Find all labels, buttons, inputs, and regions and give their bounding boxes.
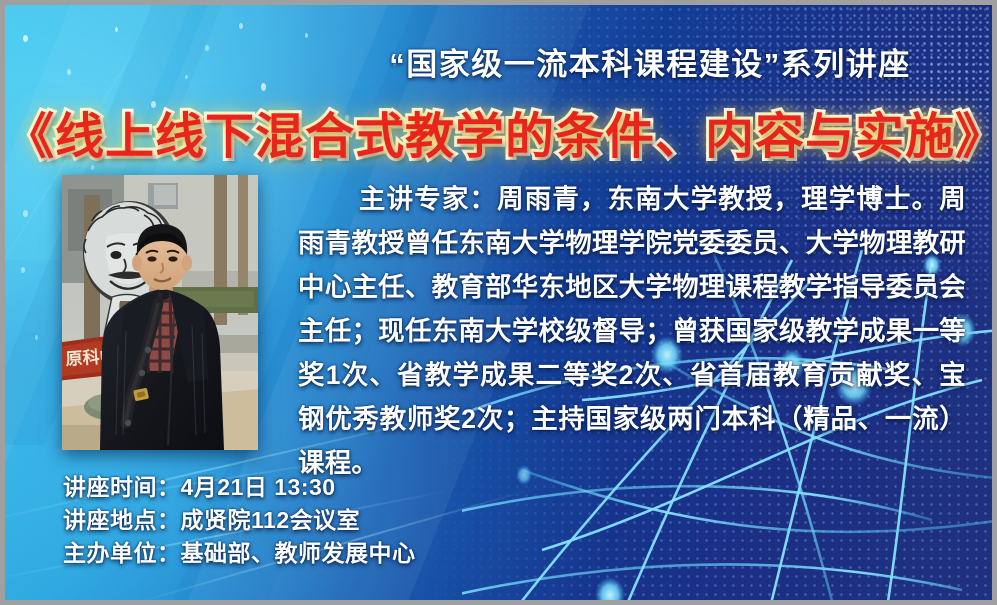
- poster-content: “国家级一流本科课程建设”系列讲座 《线上线下混合式教学的条件、内容与实施》: [5, 5, 992, 600]
- speaker-photo: 原科中心: [62, 175, 258, 450]
- bio-line-2: 周雨青教授曾任东南大学物理学院党委委员、大学物理教研中心主任、教育部华东地区大学…: [298, 184, 966, 478]
- detail-time: 讲座时间：4月21日 13:30: [63, 471, 416, 504]
- speaker-bio: 主讲专家：周雨青，东南大学教授，理学博士。周雨青教授曾任东南大学物理学院党委委员…: [298, 177, 966, 485]
- detail-sponsor: 主办单位：基础部、教师发展中心: [63, 537, 416, 570]
- event-details: 讲座时间：4月21日 13:30 讲座地点：成贤院112会议室 主办单位：基础部…: [63, 471, 416, 570]
- detail-place: 讲座地点：成贤院112会议室: [63, 504, 416, 537]
- speaker-photo-illustration: 原科中心: [62, 175, 258, 450]
- lecture-title: 《线上线下混合式教学的条件、内容与实施》: [5, 97, 997, 168]
- bio-line-1: 主讲专家：周雨青，东南大学教授，理学博士。: [358, 184, 939, 214]
- lecture-poster: “国家级一流本科课程建设”系列讲座 《线上线下混合式教学的条件、内容与实施》: [0, 0, 997, 605]
- series-kicker: “国家级一流本科课程建设”系列讲座: [335, 39, 965, 84]
